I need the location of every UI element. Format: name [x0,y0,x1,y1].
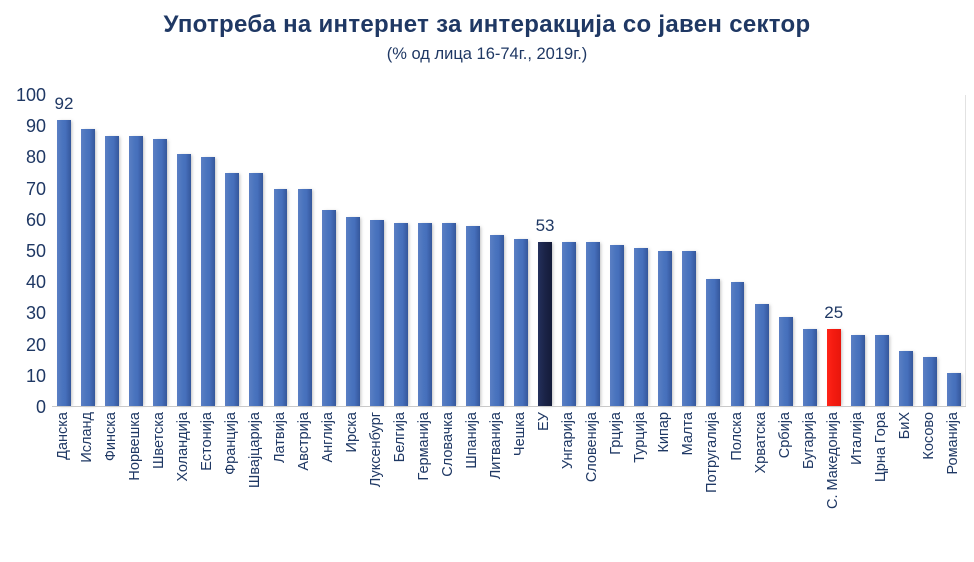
y-axis-tick-label: 80 [0,148,46,166]
bar[interactable] [201,157,215,407]
bar-group[interactable] [105,95,119,407]
x-axis-category-label: Германија [417,412,432,480]
bar-group[interactable] [682,95,696,407]
bar[interactable] [442,223,456,407]
bar[interactable] [225,173,239,407]
bar-group[interactable] [851,95,865,407]
chart-container: Употреба на интернет за интеракција со ј… [0,0,974,562]
y-axis-tick-label: 40 [0,273,46,291]
bar-group[interactable] [634,95,648,407]
bar[interactable] [177,154,191,407]
x-axis-category-label: Белгија [393,412,408,462]
x-axis-category-label: Малта [681,412,696,455]
bar-group[interactable] [706,95,720,407]
x-axis-category-label: Швајцарија [248,412,263,488]
bar[interactable] [129,136,143,407]
bar[interactable] [755,304,769,407]
bar[interactable] [538,242,552,407]
x-axis-category-label: Ирска [345,412,360,452]
y-axis-tick-label: 60 [0,211,46,229]
bar[interactable] [249,173,263,407]
bar-group[interactable] [803,95,817,407]
x-axis-category-label: Естонија [200,412,215,471]
bar-group[interactable] [418,95,432,407]
bar[interactable] [394,223,408,407]
x-axis-category-label: Луксенбург [369,412,384,487]
bar-group[interactable] [442,95,456,407]
bar[interactable] [466,226,480,407]
bar-group[interactable] [923,95,937,407]
bar-group[interactable] [129,95,143,407]
bar-group[interactable] [731,95,745,407]
x-axis-category-label: Црна Гора [874,412,889,482]
bar[interactable] [418,223,432,407]
bar-group[interactable] [658,95,672,407]
bar-group[interactable] [370,95,384,407]
x-axis-category-label: Бугарија [802,412,817,469]
x-axis-category-label: Кипар [657,412,672,453]
bar-group[interactable] [490,95,504,407]
y-axis-tick-label: 10 [0,367,46,385]
bar[interactable] [586,242,600,407]
bar[interactable] [851,335,865,407]
bar[interactable] [322,210,336,407]
bar[interactable] [899,351,913,407]
bar[interactable] [514,239,528,407]
bar[interactable] [827,329,841,407]
y-axis-tick-label: 90 [0,117,46,135]
x-axis-category-label: Норвешка [128,412,143,481]
plot-area: 925325 [52,95,966,407]
bar-group[interactable] [81,95,95,407]
bar-group[interactable] [947,95,961,407]
x-axis-category-label: Англија [321,412,336,463]
bar[interactable] [634,248,648,407]
x-axis-category-label: Чешка [513,412,528,456]
bar-value-label: 53 [536,217,555,234]
bar-group[interactable] [394,95,408,407]
y-axis-tick-label: 0 [0,398,46,416]
x-axis-category-label: Србија [778,412,793,458]
x-axis-category-label: Грција [609,412,624,455]
bar[interactable] [731,282,745,407]
x-axis-category-label: Австрија [297,412,312,471]
chart-subtitle: (% од лица 16-74г., 2019г.) [0,42,974,66]
x-axis-category-label: Хрватска [754,412,769,473]
bar[interactable] [562,242,576,407]
bar-group[interactable] [586,95,600,407]
bar-group[interactable] [298,95,312,407]
bar-group[interactable] [274,95,288,407]
bar[interactable] [370,220,384,407]
x-axis-category-label: Словачка [441,412,456,477]
x-axis-category-label: Словенија [585,412,600,482]
x-axis-category-label: Романија [946,412,961,475]
x-axis-category-label: Италија [850,412,865,465]
x-axis-category-label: Унгарија [561,412,576,469]
y-axis-tick-label: 30 [0,304,46,322]
x-axis-category-label: Потругалија [705,412,720,493]
bar-group[interactable] [875,95,889,407]
y-axis-tick-label: 50 [0,242,46,260]
bar-group[interactable] [610,95,624,407]
bar[interactable] [658,251,672,407]
bar-group[interactable] [899,95,913,407]
x-axis-category-label: Данска [56,412,71,460]
bar[interactable] [298,189,312,407]
bar-group[interactable]: 53 [538,95,552,407]
chart-title-block: Употреба на интернет за интеракција со ј… [0,10,974,66]
bar-group[interactable] [514,95,528,407]
x-axis-category-label: Холандија [176,412,191,482]
bar-group[interactable] [755,95,769,407]
bar[interactable] [105,136,119,407]
x-axis-category-label: Полска [730,412,745,461]
bar[interactable] [803,329,817,407]
bar[interactable] [682,251,696,407]
y-axis-tick-label: 70 [0,180,46,198]
bar[interactable] [875,335,889,407]
x-axis-category-label: Литванија [489,412,504,479]
bar-group[interactable] [201,95,215,407]
x-axis-category-label: С. Македонија [826,412,841,509]
y-axis-tick-label: 100 [0,86,46,104]
bar-group[interactable]: 92 [57,95,71,407]
x-axis-category-label: Исланд [80,412,95,463]
x-axis-category-label: Шветска [152,412,167,469]
bar[interactable] [610,245,624,407]
bar-group[interactable] [322,95,336,407]
y-axis: 1009080706050403020100 [0,95,46,407]
x-axis-baseline [52,406,966,407]
bar-group[interactable] [177,95,191,407]
bar[interactable] [706,279,720,407]
x-axis-category-label: Финска [104,412,119,461]
bar[interactable] [57,120,71,407]
x-axis-category-label: Франција [224,412,239,475]
bar-group[interactable] [779,95,793,407]
bar[interactable] [153,139,167,407]
x-axis-category-label: Латвија [273,412,288,463]
bar-group[interactable] [466,95,480,407]
bar-group[interactable] [225,95,239,407]
bar[interactable] [923,357,937,407]
page-title: Употреба на интернет за интеракција со ј… [0,10,974,40]
bar-value-label: 25 [824,304,843,321]
x-axis-category-label: ЕУ [537,412,552,431]
x-axis-category-label: БиХ [898,412,913,439]
bar[interactable] [346,217,360,407]
bar-group[interactable] [153,95,167,407]
bar[interactable] [490,235,504,407]
bar[interactable] [779,317,793,407]
x-axis-labels: ДанскаИсландФинскаНорвешкаШветскаХоланди… [52,412,966,562]
bar-group[interactable] [249,95,263,407]
bar-value-label: 92 [55,95,74,112]
bar[interactable] [947,373,961,407]
x-axis-category-label: Турција [633,412,648,463]
plot-right-border [965,95,966,407]
x-axis-category-label: Косово [922,412,937,460]
y-axis-tick-label: 20 [0,336,46,354]
bar[interactable] [274,189,288,407]
bar-group[interactable]: 25 [827,95,841,407]
bar-group[interactable] [346,95,360,407]
bar-group[interactable] [562,95,576,407]
bar[interactable] [81,129,95,407]
x-axis-category-label: Шпанија [465,412,480,469]
